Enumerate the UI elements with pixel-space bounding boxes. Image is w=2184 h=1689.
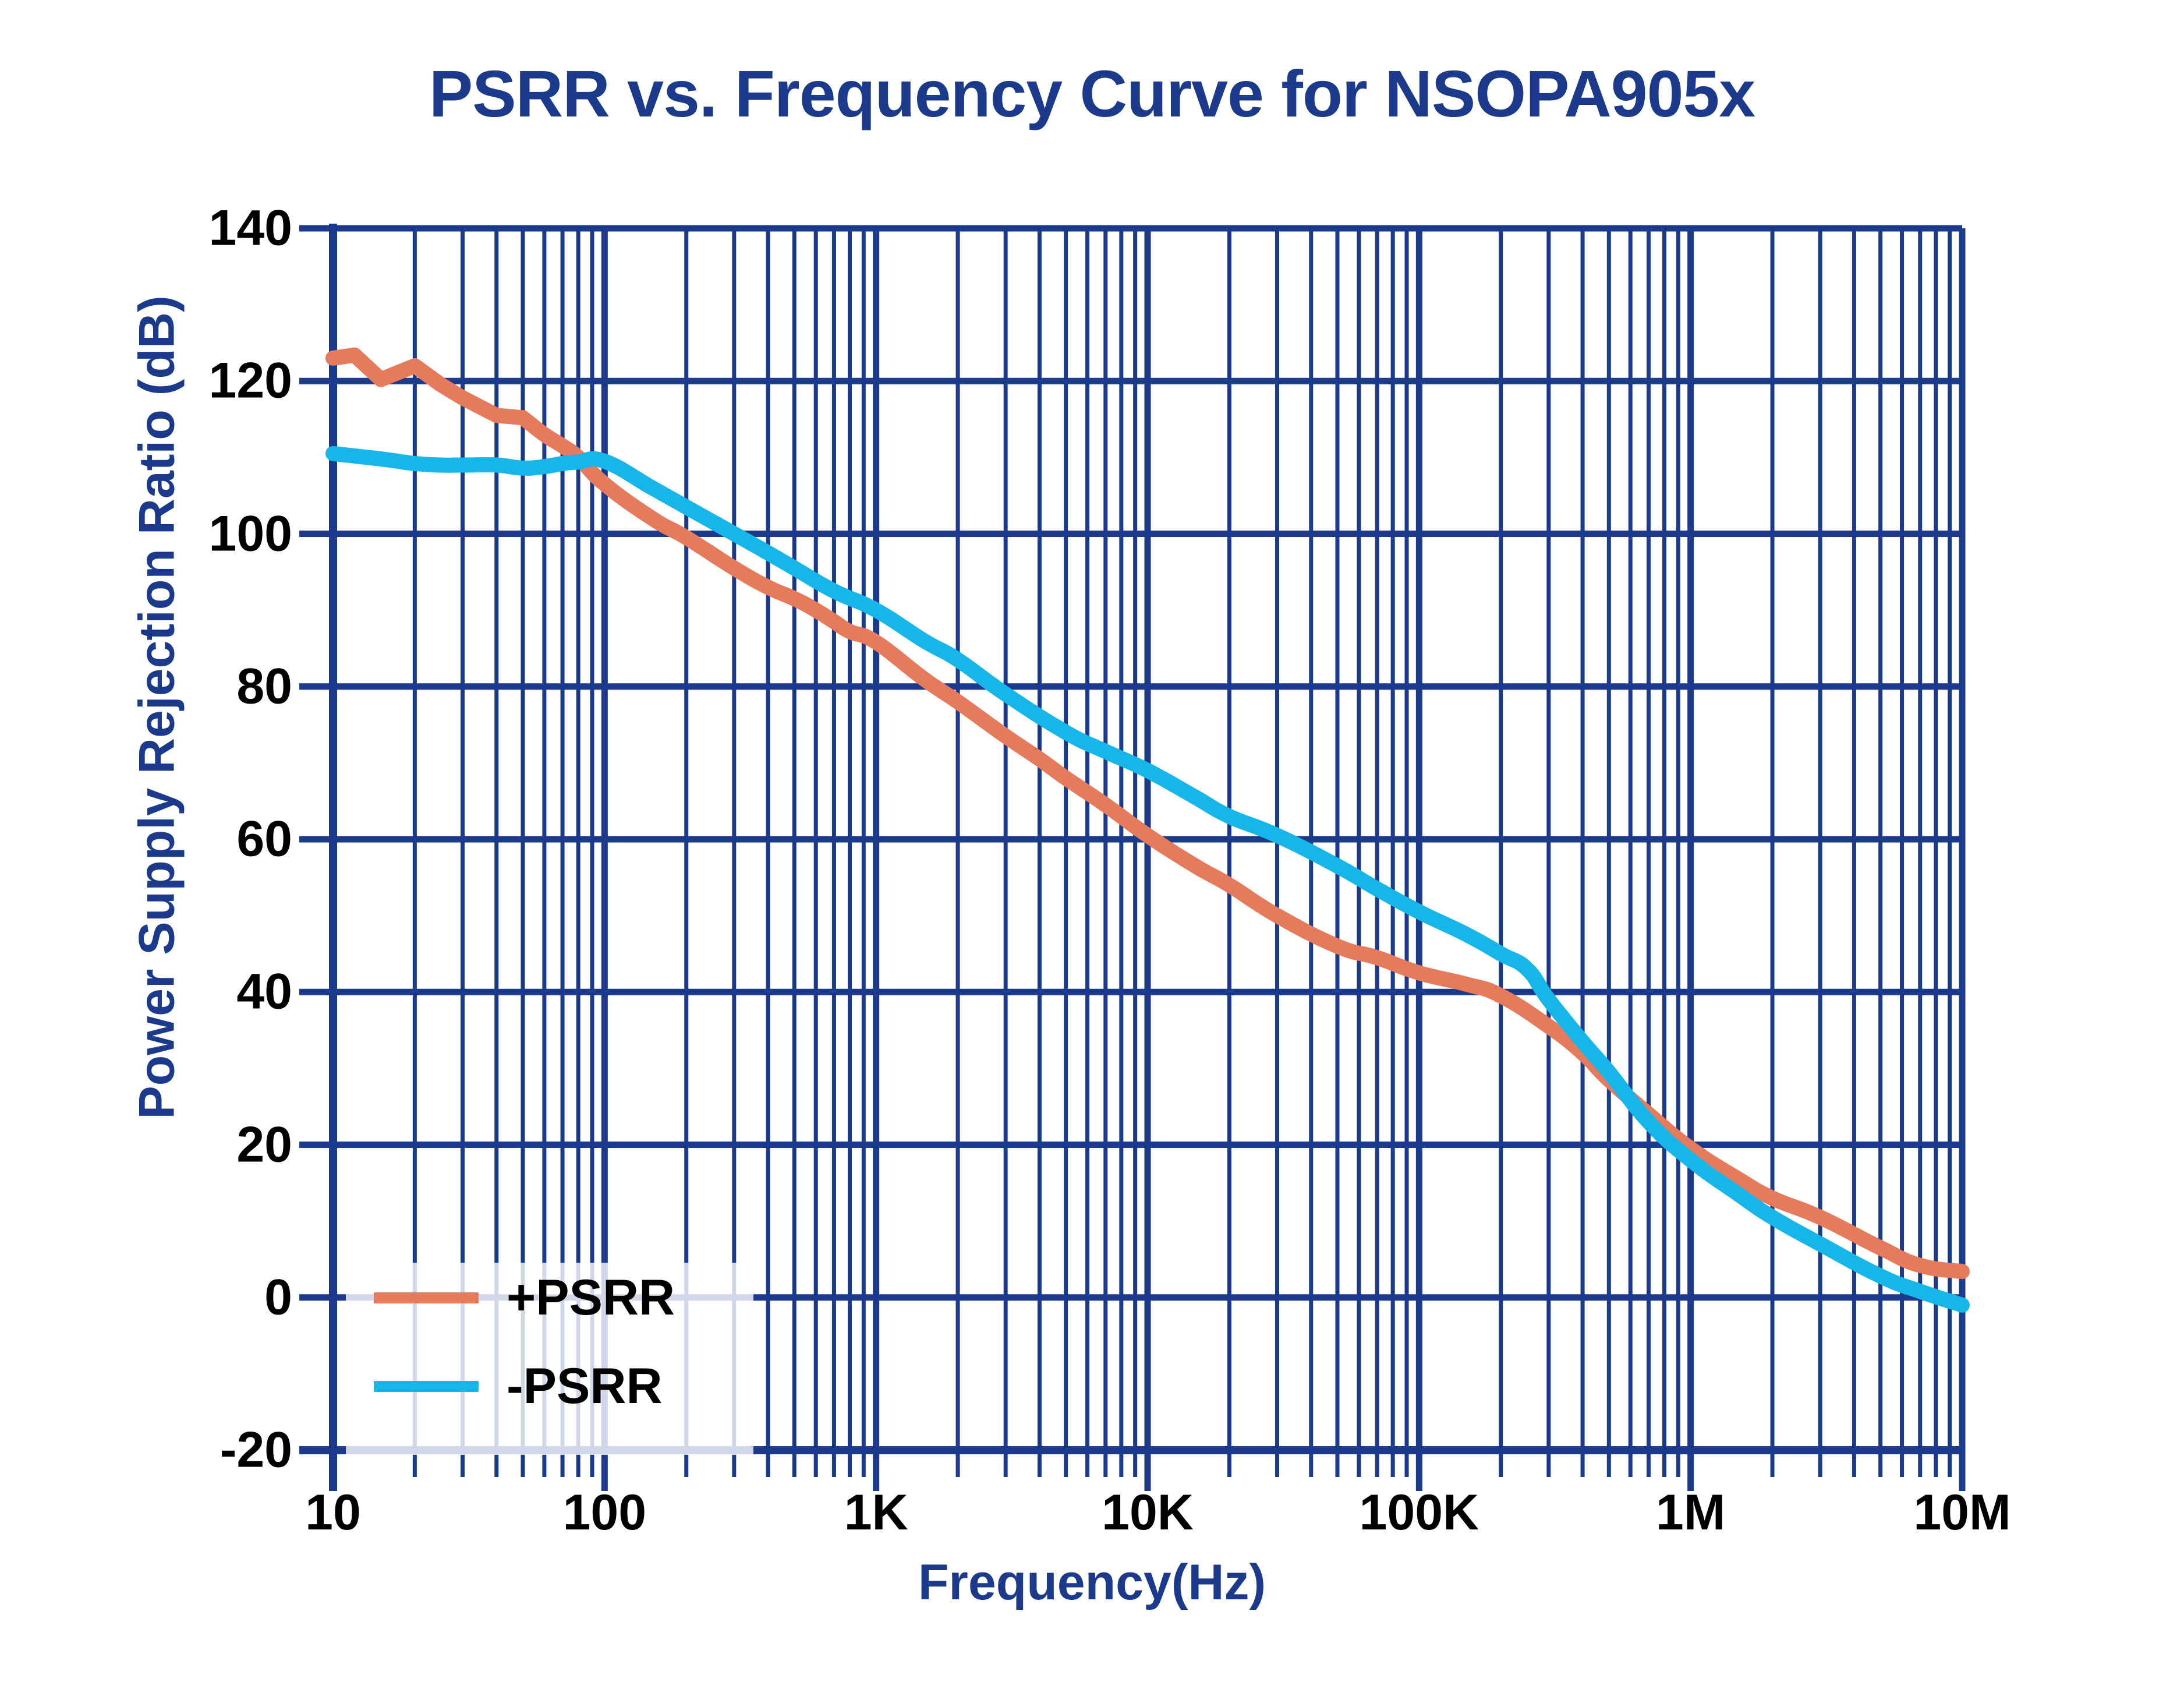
y-tick-label: -20 [48,1422,292,1479]
legend: +PSRR -PSRR [346,1263,753,1455]
x-tick-label: 10K [1025,1484,1270,1542]
x-tick-label: 100 [482,1484,727,1542]
x-tick-label: 10 [211,1484,455,1542]
y-tick-label: 140 [48,200,292,257]
y-tick-label: 100 [48,505,292,563]
legend-label-minus-psrr: -PSRR [507,1358,663,1415]
legend-swatch-minus-psrr [374,1381,479,1392]
x-axis-title: Frequency(Hz) [0,1554,2184,1612]
y-tick-label: 80 [48,658,292,715]
chart-canvas: PSRR vs. Frequency Curve for NSOPA905x P… [0,0,2184,1689]
legend-label-plus-psrr: +PSRR [507,1269,675,1327]
x-tick-label: 1M [1569,1484,1813,1542]
y-tick-label: 40 [48,963,292,1021]
x-tick-label: 100K [1297,1484,1541,1542]
legend-item-minus-psrr: -PSRR [346,1357,663,1415]
y-tick-label: 60 [48,811,292,868]
y-tick-label: 120 [48,352,292,410]
x-tick-label: 1K [754,1484,999,1542]
legend-item-plus-psrr: +PSRR [346,1268,675,1327]
chart-title: PSRR vs. Frequency Curve for NSOPA905x [0,56,2184,132]
y-tick-label: 20 [48,1116,292,1174]
x-tick-label: 10M [1840,1484,2084,1542]
legend-swatch-plus-psrr [374,1292,479,1303]
y-tick-label: 0 [48,1268,292,1326]
